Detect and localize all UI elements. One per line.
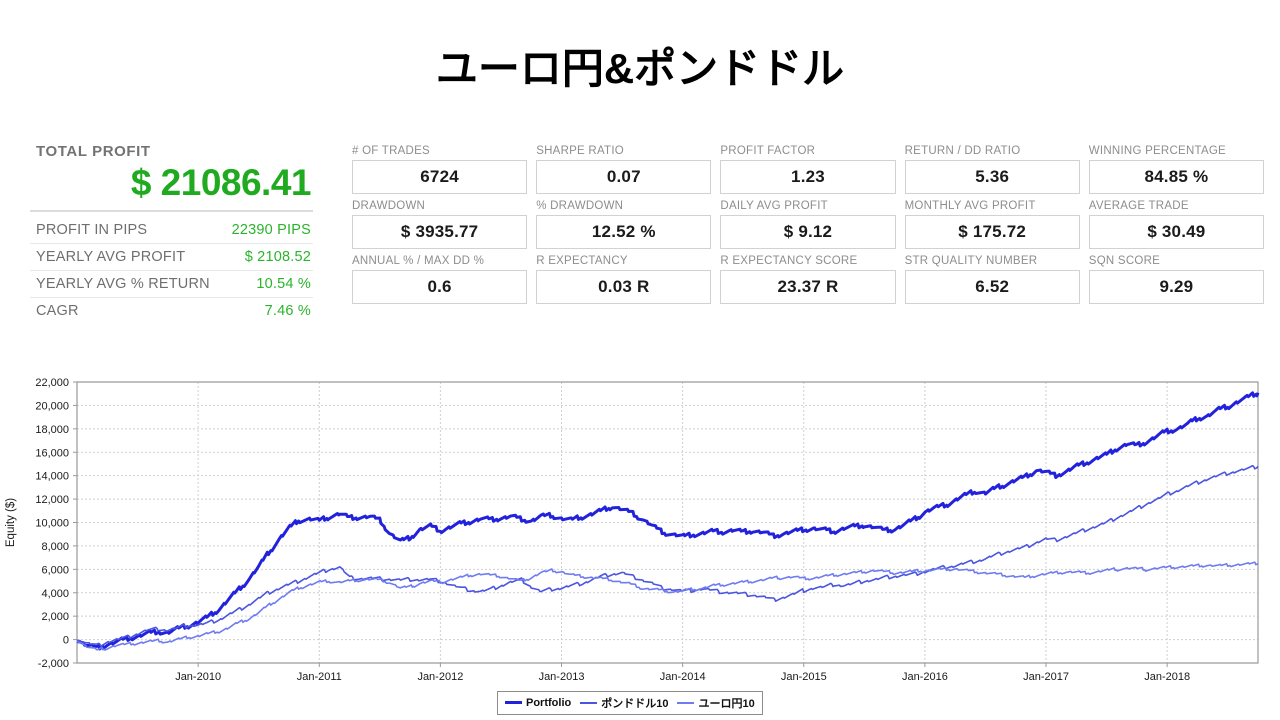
stat-cell: R EXPECTANCY0.03 R xyxy=(536,255,711,304)
stat-label: WINNING PERCENTAGE xyxy=(1089,145,1264,157)
stat-cell: STR QUALITY NUMBER6.52 xyxy=(905,255,1080,304)
stat-cell: DAILY AVG PROFIT$ 9.12 xyxy=(720,200,895,249)
legend-swatch-icon xyxy=(505,701,522,704)
total-profit-caption: TOTAL PROFIT xyxy=(36,143,313,160)
legend-item-3[interactable]: ユーロ円10 xyxy=(677,695,754,711)
chart-x-tick-labels: Jan-2010Jan-2011Jan-2012Jan-2013Jan-2014… xyxy=(175,671,1190,683)
stat-label: RETURN / DD RATIO xyxy=(905,145,1080,157)
stat-cell: MONTHLY AVG PROFIT$ 175.72 xyxy=(905,200,1080,249)
x-tick-label: Jan-2011 xyxy=(297,671,342,683)
chart-axes xyxy=(73,382,1258,667)
summary-row-cagr: CAGR 7.46 % xyxy=(30,298,313,324)
stat-cell: SHARPE RATIO0.07 xyxy=(536,145,711,194)
stat-label: STR QUALITY NUMBER xyxy=(905,255,1080,267)
stat-value: 5.36 xyxy=(905,160,1080,194)
stat-label: SHARPE RATIO xyxy=(536,145,711,157)
stat-value: $ 30.49 xyxy=(1089,215,1264,249)
x-tick-label: Jan-2010 xyxy=(175,671,221,683)
stat-label: SQN SCORE xyxy=(1089,255,1264,267)
y-tick-label: 6,000 xyxy=(41,564,69,576)
stat-label: R EXPECTANCY xyxy=(536,255,711,267)
x-tick-label: Jan-2017 xyxy=(1023,671,1069,683)
stat-label: DRAWDOWN xyxy=(352,200,527,212)
stat-cell: PROFIT FACTOR1.23 xyxy=(720,145,895,194)
stat-cell: % DRAWDOWN12.52 % xyxy=(536,200,711,249)
stat-value: 12.52 % xyxy=(536,215,711,249)
stat-label: MONTHLY AVG PROFIT xyxy=(905,200,1080,212)
summary-label: CAGR xyxy=(36,303,79,319)
chart-gridlines xyxy=(77,382,1258,663)
legend-label: Portfolio xyxy=(526,697,571,709)
series-line-3 xyxy=(77,562,1258,650)
chart-y-axis-title: Equity ($) xyxy=(5,498,17,547)
summary-label: PROFIT IN PIPS xyxy=(36,222,147,238)
stat-value: $ 3935.77 xyxy=(352,215,527,249)
legend-swatch-icon xyxy=(580,702,597,704)
summary-row-yearly-avg-percent-return: YEARLY AVG % RETURN 10.54 % xyxy=(30,271,313,298)
stat-value: 9.29 xyxy=(1089,270,1264,304)
stat-value: 84.85 % xyxy=(1089,160,1264,194)
stat-label: % DRAWDOWN xyxy=(536,200,711,212)
y-tick-label: 4,000 xyxy=(41,588,69,600)
total-profit-amount: $ 21086.41 xyxy=(30,162,313,204)
x-tick-label: Jan-2015 xyxy=(781,671,827,683)
legend-label: ポンドドル10 xyxy=(601,695,668,711)
stat-value: $ 175.72 xyxy=(905,215,1080,249)
stat-cell: RETURN / DD RATIO5.36 xyxy=(905,145,1080,194)
y-tick-label: 18,000 xyxy=(35,424,69,436)
equity-curve-chart: 22,00020,00018,00016,00014,00012,00010,0… xyxy=(0,362,1280,720)
page-title: ユーロ円&ポンドドル xyxy=(0,44,1280,94)
stat-value: 6.52 xyxy=(905,270,1080,304)
stat-label: DAILY AVG PROFIT xyxy=(720,200,895,212)
x-tick-label: Jan-2016 xyxy=(902,671,948,683)
stat-cell: AVERAGE TRADE$ 30.49 xyxy=(1089,200,1264,249)
chart-y-tick-labels: 22,00020,00018,00016,00014,00012,00010,0… xyxy=(35,377,69,670)
summary-label: YEARLY AVG % RETURN xyxy=(36,276,210,292)
total-profit-panel: TOTAL PROFIT $ 21086.41 PROFIT IN PIPS 2… xyxy=(30,143,313,324)
chart-legend[interactable]: Portfolioポンドドル10ユーロ円10 xyxy=(497,691,763,715)
summary-value: $ 2108.52 xyxy=(245,249,311,265)
x-tick-label: Jan-2014 xyxy=(660,671,706,683)
series-line-2 xyxy=(77,466,1258,647)
stat-cell: DRAWDOWN$ 3935.77 xyxy=(352,200,527,249)
stat-cell: R EXPECTANCY SCORE23.37 R xyxy=(720,255,895,304)
stat-cell: SQN SCORE9.29 xyxy=(1089,255,1264,304)
summary-divider xyxy=(30,210,313,212)
y-tick-label: 2,000 xyxy=(41,611,69,623)
stat-value: 0.6 xyxy=(352,270,527,304)
stat-cell: WINNING PERCENTAGE84.85 % xyxy=(1089,145,1264,194)
stat-label: AVERAGE TRADE xyxy=(1089,200,1264,212)
y-tick-label: 16,000 xyxy=(35,447,69,459)
x-tick-label: Jan-2018 xyxy=(1144,671,1190,683)
stat-label: ANNUAL % / MAX DD % xyxy=(352,255,527,267)
summary-row-yearly-avg-profit: YEARLY AVG PROFIT $ 2108.52 xyxy=(30,244,313,271)
y-tick-label: 14,000 xyxy=(35,471,69,483)
stat-label: R EXPECTANCY SCORE xyxy=(720,255,895,267)
stat-value: 0.03 R xyxy=(536,270,711,304)
stat-value: 6724 xyxy=(352,160,527,194)
y-tick-label: -2,000 xyxy=(38,658,69,670)
x-tick-label: Jan-2013 xyxy=(539,671,585,683)
stat-value: $ 9.12 xyxy=(720,215,895,249)
summary-value: 10.54 % xyxy=(256,276,311,292)
statistics-grid: # OF TRADES6724SHARPE RATIO0.07PROFIT FA… xyxy=(352,145,1264,304)
y-tick-label: 20,000 xyxy=(35,400,69,412)
stat-value: 1.23 xyxy=(720,160,895,194)
y-tick-label: 0 xyxy=(63,635,69,647)
legend-swatch-icon xyxy=(677,702,694,704)
stat-label: # OF TRADES xyxy=(352,145,527,157)
stat-cell: ANNUAL % / MAX DD %0.6 xyxy=(352,255,527,304)
stat-value: 0.07 xyxy=(536,160,711,194)
x-tick-label: Jan-2012 xyxy=(417,671,463,683)
legend-item-2[interactable]: ポンドドル10 xyxy=(580,695,668,711)
stat-value: 23.37 R xyxy=(720,270,895,304)
chart-series-lines xyxy=(77,393,1258,650)
legend-label: ユーロ円10 xyxy=(698,695,754,711)
y-tick-label: 10,000 xyxy=(35,518,69,530)
y-tick-label: 12,000 xyxy=(35,494,69,506)
summary-value: 7.46 % xyxy=(265,303,311,319)
series-line-1 xyxy=(77,393,1258,649)
equity-chart-svg: 22,00020,00018,00016,00014,00012,00010,0… xyxy=(0,362,1280,720)
y-tick-label: 22,000 xyxy=(35,377,69,389)
summary-value: 22390 PIPS xyxy=(232,222,311,238)
summary-label: YEARLY AVG PROFIT xyxy=(36,249,185,265)
summary-row-profit-in-pips: PROFIT IN PIPS 22390 PIPS xyxy=(30,217,313,244)
stat-cell: # OF TRADES6724 xyxy=(352,145,527,194)
y-tick-label: 8,000 xyxy=(41,541,69,553)
legend-item-1[interactable]: Portfolio xyxy=(505,697,571,709)
stat-label: PROFIT FACTOR xyxy=(720,145,895,157)
